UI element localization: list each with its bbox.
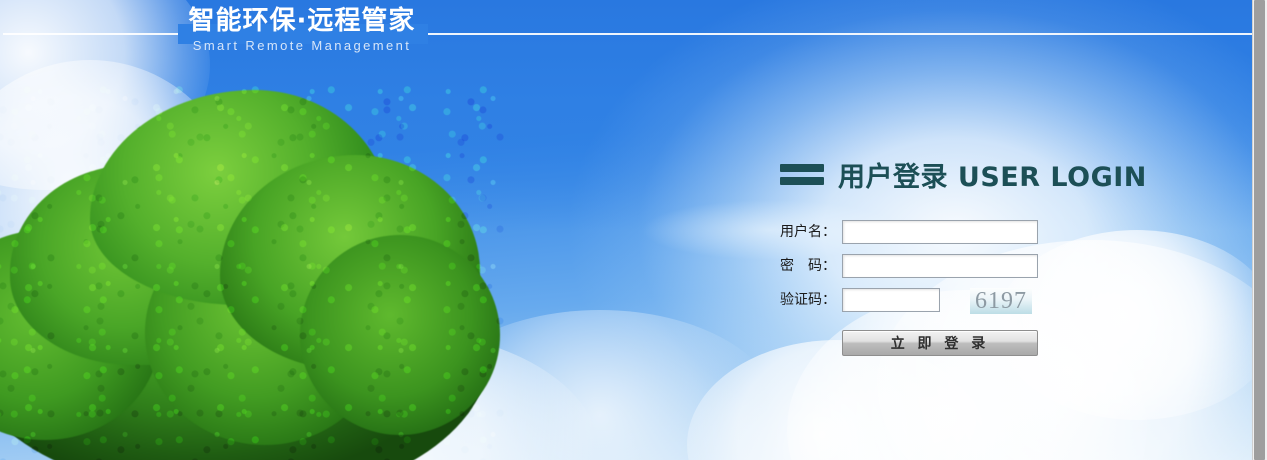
captcha-row: 验证码： 6197	[780, 288, 1180, 314]
submit-row: 立 即 登 录	[780, 330, 1180, 356]
login-panel-title-text: 用户登录 USER LOGIN	[838, 155, 1147, 194]
login-page: 智能环保·远程管家 Smart Remote Management 用户登录 U…	[0, 0, 1267, 460]
brand-title-cn: 智能环保·远程管家	[186, 6, 418, 36]
captcha-image[interactable]: 6197	[970, 288, 1032, 314]
brand-block: 智能环保·远程管家 Smart Remote Management	[186, 6, 418, 56]
captcha-label: 验证码：	[780, 288, 842, 310]
login-panel: 用户登录 USER LOGIN 用户名： 密 码： 验证码： 6197 立 即 …	[780, 155, 1180, 356]
password-input[interactable]	[842, 254, 1038, 278]
password-label: 密 码：	[780, 254, 842, 276]
double-bar-icon	[780, 164, 824, 185]
password-row: 密 码：	[780, 254, 1180, 278]
brand-title-en: Smart Remote Management	[186, 36, 418, 56]
page-scrollbar[interactable]	[1252, 0, 1267, 460]
username-label: 用户名：	[780, 220, 842, 242]
login-button[interactable]: 立 即 登 录	[842, 330, 1038, 356]
login-panel-heading: 用户登录 USER LOGIN	[780, 155, 1180, 194]
username-input[interactable]	[842, 220, 1038, 244]
scrollbar-thumb[interactable]	[1254, 0, 1265, 460]
username-row: 用户名：	[780, 220, 1180, 244]
captcha-input[interactable]	[842, 288, 940, 312]
